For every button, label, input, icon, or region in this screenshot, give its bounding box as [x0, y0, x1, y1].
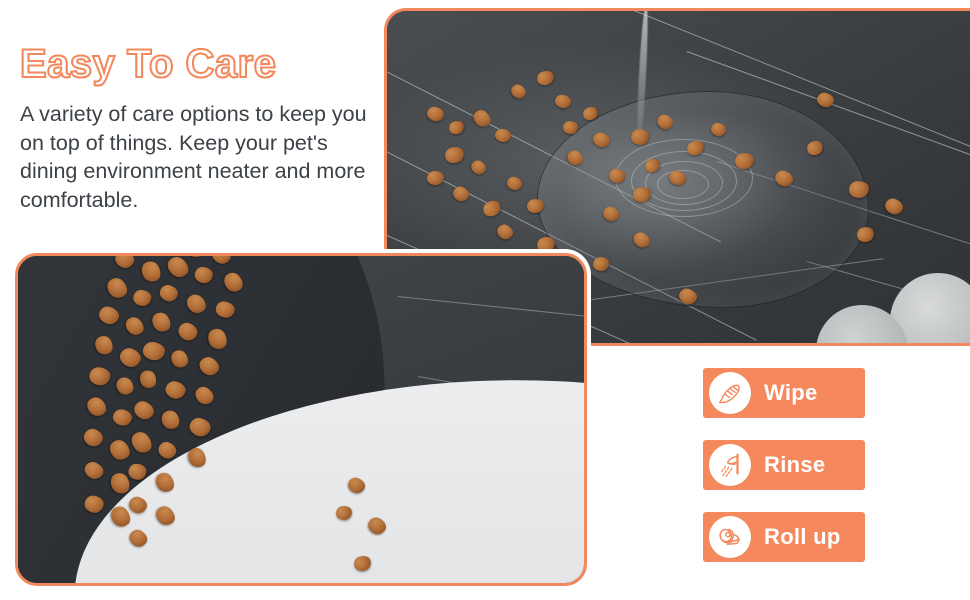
feature-badge-rinse[interactable]: Rinse [703, 440, 865, 490]
feature-badge-label: Rinse [764, 454, 825, 476]
marketing-image-canvas: Easy To Care A variety of care options t… [0, 0, 970, 600]
page-title: Easy To Care [20, 44, 376, 84]
feature-badge-rollup[interactable]: Roll up [703, 512, 865, 562]
roll-pour-photo-panel [15, 253, 587, 586]
feature-badge-label: Wipe [764, 382, 818, 404]
feature-badge-label: Roll up [764, 526, 841, 548]
shower-head-rinse-icon [709, 444, 751, 486]
body-copy: A variety of care options to keep you on… [20, 100, 380, 214]
mat-surface [18, 256, 584, 583]
feature-badge-list: Wipe Rinse [703, 368, 865, 584]
rolled-mat-icon [709, 516, 751, 558]
text-block: Easy To Care A variety of care options t… [16, 44, 376, 214]
feature-badge-wipe[interactable]: Wipe [703, 368, 865, 418]
hand-wipe-cloth-icon [709, 372, 751, 414]
